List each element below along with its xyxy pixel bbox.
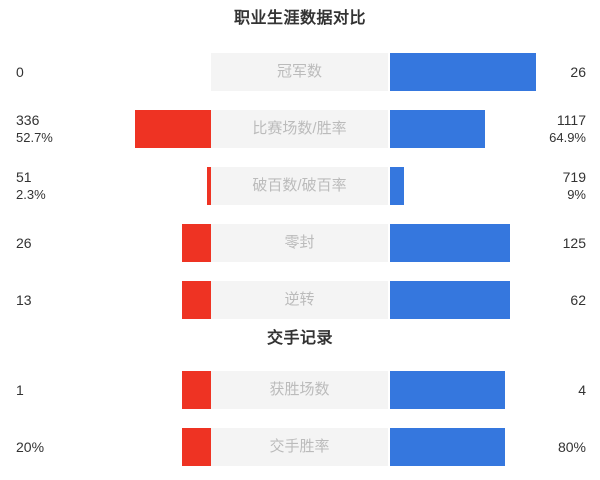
right-primary-value: 80% bbox=[558, 439, 586, 456]
left-value-group: 13 bbox=[16, 281, 136, 319]
left-primary-value: 13 bbox=[16, 292, 32, 309]
left-primary-value: 0 bbox=[16, 64, 24, 81]
left-value-group: 1 bbox=[16, 371, 136, 409]
left-primary-value: 51 bbox=[16, 169, 32, 186]
right-secondary-value: 64.9% bbox=[549, 129, 586, 146]
left-bar bbox=[182, 428, 211, 466]
metric-track: 零封 bbox=[211, 224, 388, 262]
metric-label: 比赛场数/胜率 bbox=[211, 110, 388, 148]
left-bar bbox=[182, 371, 211, 409]
right-bar bbox=[390, 167, 404, 205]
left-value-group: 26 bbox=[16, 224, 136, 262]
right-value-group: 125 bbox=[466, 224, 586, 262]
right-primary-value: 26 bbox=[570, 64, 586, 81]
metric-label: 交手胜率 bbox=[211, 428, 388, 466]
metric-track: 交手胜率 bbox=[211, 428, 388, 466]
left-value-group: 20% bbox=[16, 428, 136, 466]
metric-track: 冠军数 bbox=[211, 53, 388, 91]
right-secondary-value: 9% bbox=[567, 186, 586, 203]
stat-row: 13 逆转 62 bbox=[0, 281, 600, 319]
right-value-group: 62 bbox=[466, 281, 586, 319]
metric-label: 破百数/破百率 bbox=[211, 167, 388, 205]
left-value-group: 51 2.3% bbox=[16, 167, 136, 205]
right-primary-value: 1117 bbox=[557, 112, 586, 129]
metric-label: 冠军数 bbox=[211, 53, 388, 91]
metric-track: 获胜场数 bbox=[211, 371, 388, 409]
right-value-group: 4 bbox=[466, 371, 586, 409]
metric-track: 破百数/破百率 bbox=[211, 167, 388, 205]
left-bar bbox=[182, 224, 211, 262]
right-primary-value: 125 bbox=[563, 235, 586, 252]
left-secondary-value: 2.3% bbox=[16, 186, 46, 203]
stat-row: 1 获胜场数 4 bbox=[0, 371, 600, 409]
stats-comparison-page: 职业生涯数据对比 0 冠军数 26 336 52.7% 比赛场数/胜率 1117… bbox=[0, 0, 600, 480]
right-value-group: 26 bbox=[466, 53, 586, 91]
left-primary-value: 336 bbox=[16, 112, 39, 129]
right-value-group: 1117 64.9% bbox=[466, 110, 586, 148]
stat-row: 20% 交手胜率 80% bbox=[0, 428, 600, 466]
left-primary-value: 1 bbox=[16, 382, 24, 399]
metric-label: 获胜场数 bbox=[211, 371, 388, 409]
right-primary-value: 62 bbox=[570, 292, 586, 309]
metric-label: 逆转 bbox=[211, 281, 388, 319]
metric-track: 比赛场数/胜率 bbox=[211, 110, 388, 148]
career-section-title: 职业生涯数据对比 bbox=[0, 8, 600, 30]
right-value-group: 80% bbox=[466, 428, 586, 466]
left-secondary-value: 52.7% bbox=[16, 129, 53, 146]
left-value-group: 336 52.7% bbox=[16, 110, 136, 148]
right-primary-value: 4 bbox=[578, 382, 586, 399]
stat-row: 51 2.3% 破百数/破百率 719 9% bbox=[0, 167, 600, 205]
left-primary-value: 26 bbox=[16, 235, 32, 252]
stat-row: 26 零封 125 bbox=[0, 224, 600, 262]
right-value-group: 719 9% bbox=[466, 167, 586, 205]
stat-row: 336 52.7% 比赛场数/胜率 1117 64.9% bbox=[0, 110, 600, 148]
right-primary-value: 719 bbox=[563, 169, 586, 186]
stat-row: 0 冠军数 26 bbox=[0, 53, 600, 91]
left-primary-value: 20% bbox=[16, 439, 44, 456]
h2h-section-title: 交手记录 bbox=[0, 328, 600, 350]
left-bar bbox=[135, 110, 211, 148]
left-value-group: 0 bbox=[16, 53, 136, 91]
left-bar bbox=[182, 281, 211, 319]
metric-label: 零封 bbox=[211, 224, 388, 262]
metric-track: 逆转 bbox=[211, 281, 388, 319]
